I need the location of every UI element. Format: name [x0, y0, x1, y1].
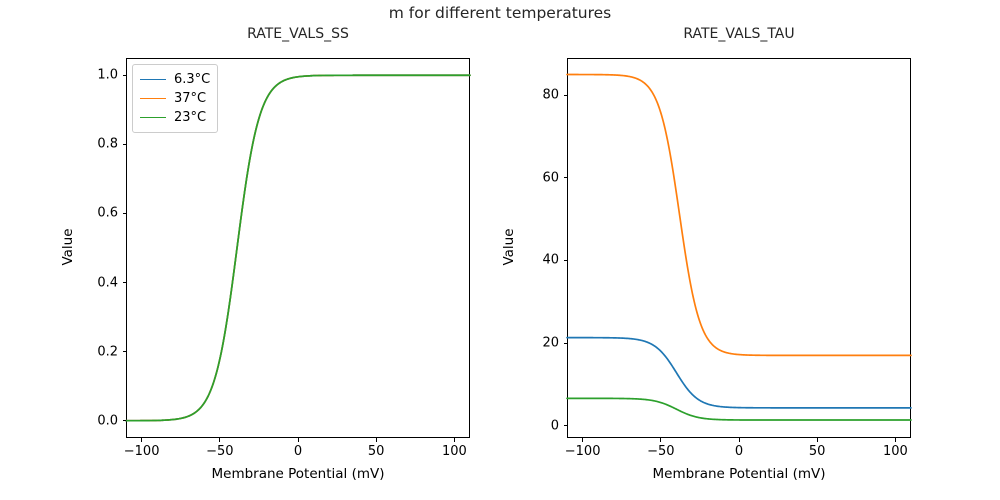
x-tick-label: −100 — [565, 444, 601, 459]
y-tick-label: 80 — [507, 88, 559, 103]
x-axis-label-right: Membrane Potential (mV) — [652, 466, 825, 482]
plot-lines-right — [0, 0, 1000, 500]
series-line — [567, 398, 911, 420]
x-tickmark — [739, 438, 740, 442]
matplotlib-figure: m for different temperatures RATE_VALS_S… — [0, 0, 1000, 500]
x-tick-label: 50 — [809, 444, 826, 459]
y-tickmark — [564, 95, 568, 96]
x-tick-label: −50 — [647, 444, 674, 459]
y-tickmark — [564, 425, 568, 426]
x-tick-label: 100 — [883, 444, 908, 459]
y-tickmark — [564, 343, 568, 344]
y-tick-label: 20 — [507, 336, 559, 351]
y-tick-label: 60 — [507, 170, 559, 185]
x-tickmark — [817, 438, 818, 442]
x-tickmark — [660, 438, 661, 442]
x-tick-label: 0 — [735, 444, 743, 459]
series-line — [567, 338, 911, 408]
series-line — [567, 75, 911, 356]
y-axis-label-right: Value — [501, 197, 517, 297]
y-tickmark — [564, 260, 568, 261]
x-tickmark — [582, 438, 583, 442]
y-tick-label: 0 — [507, 418, 559, 433]
y-tickmark — [564, 177, 568, 178]
x-tickmark — [895, 438, 896, 442]
